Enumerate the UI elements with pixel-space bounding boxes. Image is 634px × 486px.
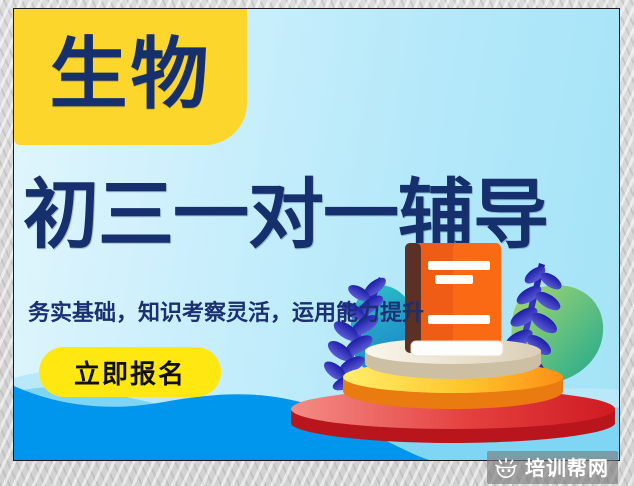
subject-badge-label: 生物 bbox=[49, 36, 211, 114]
subject-badge: 生物 bbox=[14, 9, 247, 145]
sun-face-icon bbox=[494, 457, 518, 479]
signup-button-label: 立即报名 bbox=[74, 354, 186, 391]
page-background: 生物 初三一对一辅导 bbox=[0, 0, 634, 486]
book-podium-illustration bbox=[283, 237, 620, 452]
watermark: 培训帮网 bbox=[487, 451, 618, 484]
promo-banner: 生物 初三一对一辅导 bbox=[13, 8, 620, 461]
signup-button[interactable]: 立即报名 bbox=[39, 347, 221, 397]
watermark-text: 培训帮网 bbox=[525, 458, 609, 478]
subtitle-text: 务实基础，知识考察灵活，运用能力提升 bbox=[28, 295, 424, 327]
